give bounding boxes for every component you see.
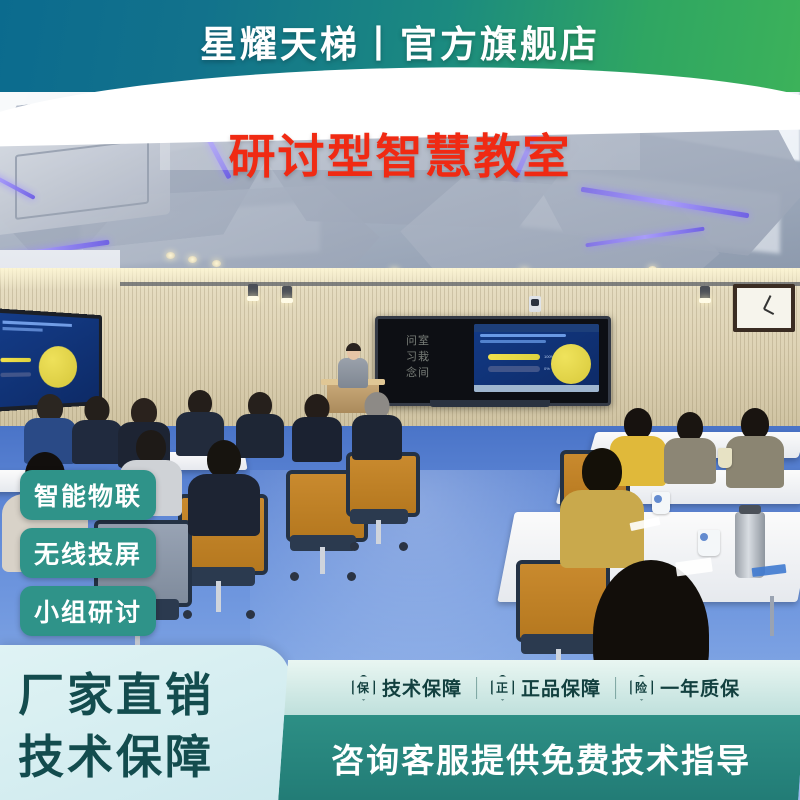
main-smart-display: 问室习栽念间 100% 0% <box>375 316 611 406</box>
presenter-body <box>338 358 368 388</box>
ceiling-spotlight <box>188 256 197 263</box>
paper-cup <box>698 530 720 556</box>
ceiling-spotlight <box>166 252 175 259</box>
slide-option-bar <box>0 372 31 377</box>
factory-direct-line1: 厂家直销 <box>18 659 214 725</box>
chair-wheels <box>290 572 355 580</box>
projected-slide: 100% 0% <box>474 324 599 392</box>
slide-pie-chart <box>39 346 77 389</box>
feature-pill-wireless-casting: 无线投屏 <box>20 528 156 578</box>
attendee-torso <box>726 436 784 488</box>
feature-pill-iot: 智能物联 <box>20 470 156 520</box>
guarantee-label-warranty: 一年质保 <box>660 674 740 701</box>
chair-post <box>320 547 325 574</box>
slide-question-line <box>480 334 566 337</box>
table-leg <box>770 596 774 636</box>
attendee-head <box>136 430 166 464</box>
attendee-head <box>207 440 241 478</box>
slide-option-bar-a <box>488 354 540 360</box>
attendee <box>560 448 644 568</box>
wall-camera-icon <box>529 296 541 312</box>
attendee <box>188 440 260 536</box>
paper-cup <box>652 492 670 514</box>
blackboard-handwriting: 问室习栽念间 <box>406 333 464 391</box>
slide-option-percent-b: 0% <box>544 366 550 371</box>
attendee-head <box>85 396 110 423</box>
feature-pill-group-discussion: 小组研讨 <box>20 586 156 636</box>
slide-option-bar-b <box>488 366 540 372</box>
wall-clock <box>733 284 795 332</box>
presenter-hair <box>346 343 361 351</box>
chair-wheels <box>183 610 255 618</box>
guarantee-label-authentic: 正品保障 <box>521 674 601 701</box>
slide-question-line <box>3 327 43 332</box>
attendee-torso <box>188 474 260 536</box>
store-title: 星耀天梯丨官方旗舰店 <box>0 14 800 68</box>
attendee-head <box>582 448 622 494</box>
guarantee-divider <box>476 677 477 699</box>
guarantee-divider <box>615 677 616 699</box>
ceiling-spotlight <box>212 260 221 267</box>
attendee <box>292 394 342 462</box>
chair-wheels <box>350 542 408 550</box>
track-lamp <box>282 286 292 300</box>
factory-direct-panel: 厂家直销 技术保障 <box>0 645 290 800</box>
attendee <box>664 412 716 484</box>
guarantee-item-authentic: 正 正品保障 <box>491 674 601 701</box>
track-lamp <box>248 284 258 298</box>
slide-question-line <box>3 321 72 327</box>
attendee-torso <box>664 438 716 484</box>
ceiling-light-track <box>120 282 800 286</box>
slide-toolbar <box>474 324 599 332</box>
slide-taskbar <box>474 385 599 392</box>
track-lamp <box>700 286 710 300</box>
guarantee-item-technical: 保 技术保障 <box>352 674 462 701</box>
slide-pie-chart <box>551 344 591 384</box>
guarantee-cta-block: 保 技术保障 正 正品保障 险 一年质保 咨询客服提供免费技术指导 <box>278 660 800 800</box>
display-base <box>430 400 550 407</box>
attendee-torso <box>292 417 342 462</box>
slide-question-line <box>480 340 546 343</box>
guarantee-list: 保 技术保障 正 正品保障 险 一年质保 <box>286 660 800 715</box>
chair-post <box>216 581 221 612</box>
product-headline: 研讨型智慧教室 <box>0 118 800 187</box>
cta-text: 咨询客服提供免费技术指导 <box>281 715 800 800</box>
guarantee-label-technical: 技术保障 <box>382 674 462 701</box>
hexagon-guarantee-icon: 保 <box>352 675 375 701</box>
hexagon-warranty-icon: 险 <box>630 675 653 701</box>
factory-direct-line2: 技术保障 <box>18 721 214 787</box>
attendee-torso <box>352 415 402 460</box>
attendee <box>352 392 402 460</box>
hexagon-authentic-icon: 正 <box>491 675 514 701</box>
chair-post <box>376 520 381 544</box>
chair <box>346 452 412 544</box>
guarantee-item-warranty: 险 一年质保 <box>630 674 740 701</box>
chair-back <box>346 452 420 517</box>
slide-option-bar <box>0 358 31 362</box>
product-banner-image: 问室习栽念间 100% 0% <box>0 0 800 800</box>
wall-cove-light <box>0 268 800 290</box>
attendee <box>726 408 784 488</box>
water-bottle <box>718 448 732 468</box>
